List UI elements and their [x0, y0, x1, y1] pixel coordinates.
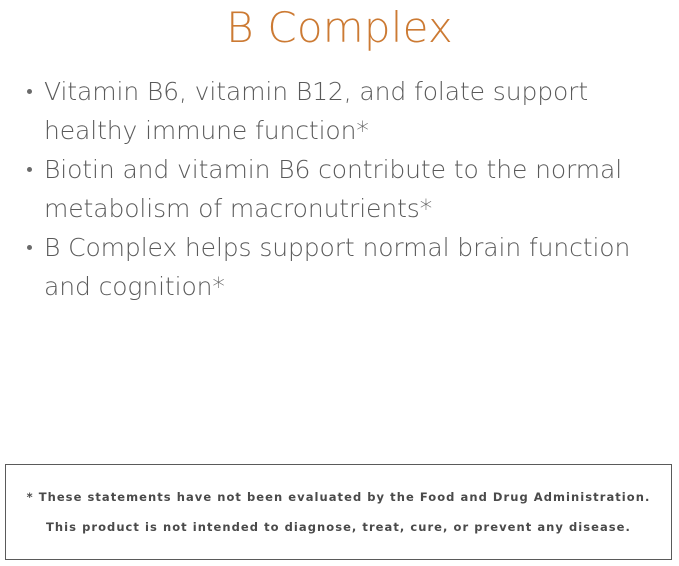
- benefit-text: Vitamin B6, vitamin B12, and folate supp…: [44, 77, 588, 145]
- dot-bullet-icon: [27, 167, 32, 172]
- list-item: Biotin and vitamin B6 contribute to the …: [22, 150, 662, 228]
- fda-disclaimer-box: * These statements have not been evaluat…: [5, 464, 672, 560]
- benefit-list: Vitamin B6, vitamin B12, and folate supp…: [22, 72, 662, 306]
- product-info-panel: B Complex Vitamin B6, vitamin B12, and f…: [0, 0, 679, 566]
- disclaimer-line-2: This product is not intended to diagnose…: [46, 520, 631, 534]
- benefit-text: Biotin and vitamin B6 contribute to the …: [44, 155, 622, 223]
- dot-bullet-icon: [27, 89, 32, 94]
- dot-bullet-icon: [27, 245, 32, 250]
- list-item: B Complex helps support normal brain fun…: [22, 228, 662, 306]
- page-title: B Complex: [0, 4, 679, 52]
- benefit-text: B Complex helps support normal brain fun…: [44, 233, 630, 301]
- list-item: Vitamin B6, vitamin B12, and folate supp…: [22, 72, 662, 150]
- disclaimer-line-1: * These statements have not been evaluat…: [27, 490, 651, 504]
